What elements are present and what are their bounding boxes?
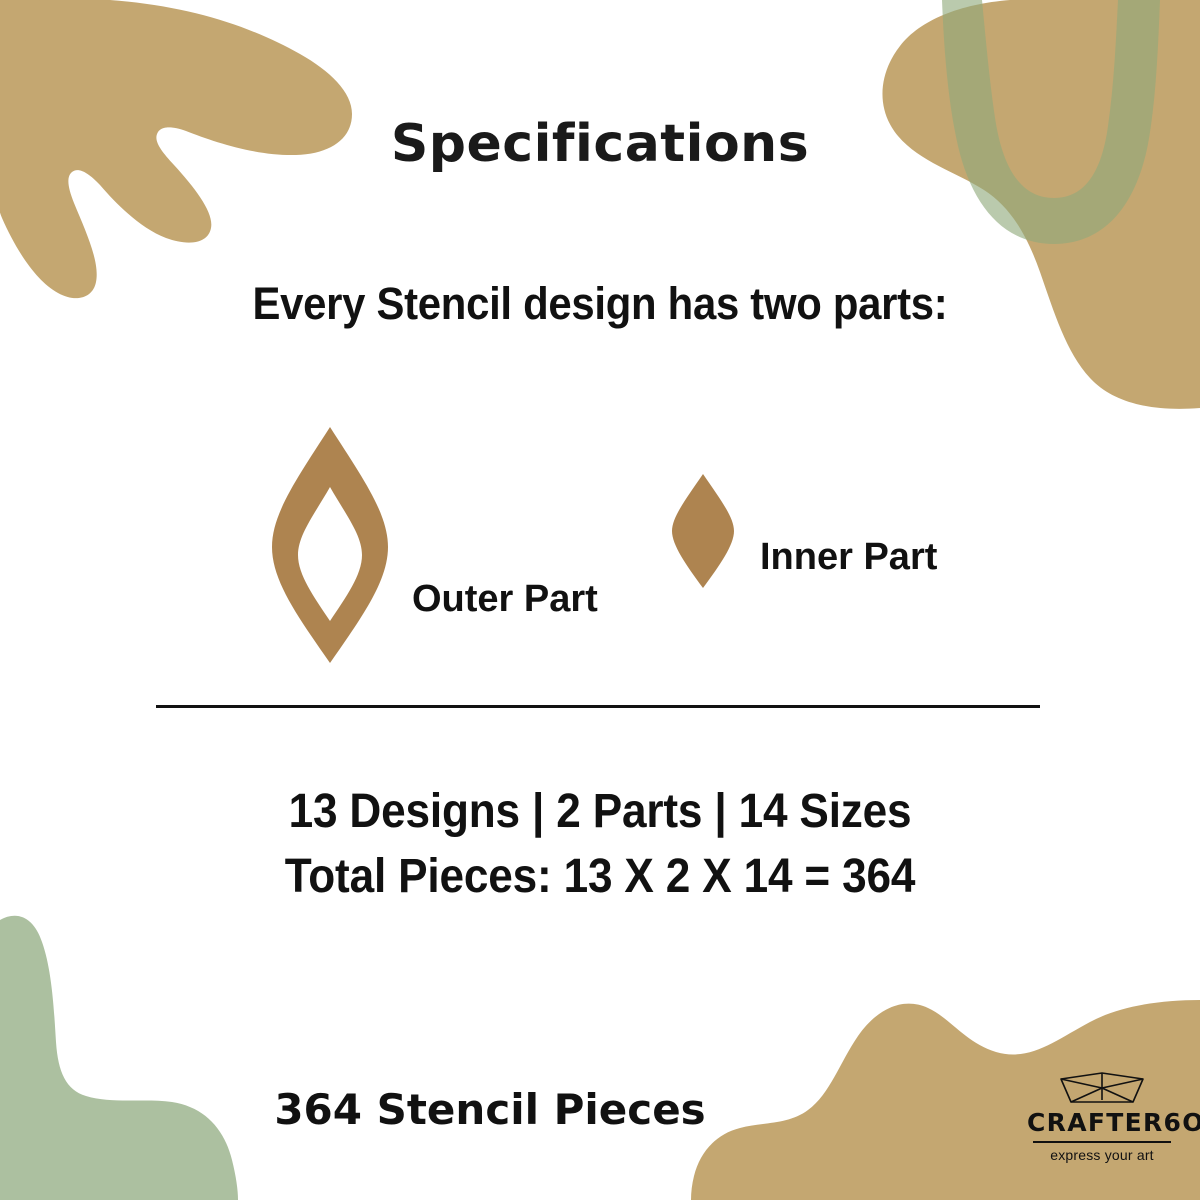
stats-line-breakdown: 13 Designs | 2 Parts | 14 Sizes	[48, 780, 1152, 845]
page-subtitle: Every Stencil design has two parts:	[42, 278, 1158, 330]
leaf-ring-shape-icon	[270, 425, 390, 665]
inner-part-item: Inner Part	[670, 473, 937, 589]
stats-block: 13 Designs | 2 Parts | 14 Sizes Total Pi…	[0, 780, 1200, 910]
section-divider	[156, 705, 1040, 708]
top-right-tan-blob	[882, 0, 1200, 409]
brand-logo: CRAFTER6O ® express your art	[1027, 1070, 1177, 1163]
paper-boat-icon	[1058, 1070, 1146, 1106]
logo-tagline: express your art	[1027, 1147, 1177, 1163]
bottom-left-green-blob	[0, 916, 238, 1200]
specifications-infographic: Specifications Every Stencil design has …	[0, 0, 1200, 1200]
leaf-solid-shape-icon	[670, 473, 736, 589]
outer-part-item: Outer Part	[270, 425, 598, 665]
footer-headline: 364 Stencil Pieces	[0, 1085, 1200, 1134]
parts-row: Outer Part Inner Part	[0, 425, 1200, 675]
logo-wordmark-wrap: CRAFTER6O ®	[1027, 1110, 1200, 1136]
top-left-tan-blob-lobe	[0, 0, 40, 86]
page-title: Specifications	[0, 114, 1200, 174]
logo-divider-rule	[1033, 1141, 1171, 1143]
logo-wordmark: CRAFTER6O	[1027, 1108, 1200, 1137]
stats-line-total: Total Pieces: 13 X 2 X 14 = 364	[48, 845, 1152, 910]
inner-part-label: Inner Part	[760, 536, 937, 579]
outer-part-label: Outer Part	[412, 578, 598, 621]
